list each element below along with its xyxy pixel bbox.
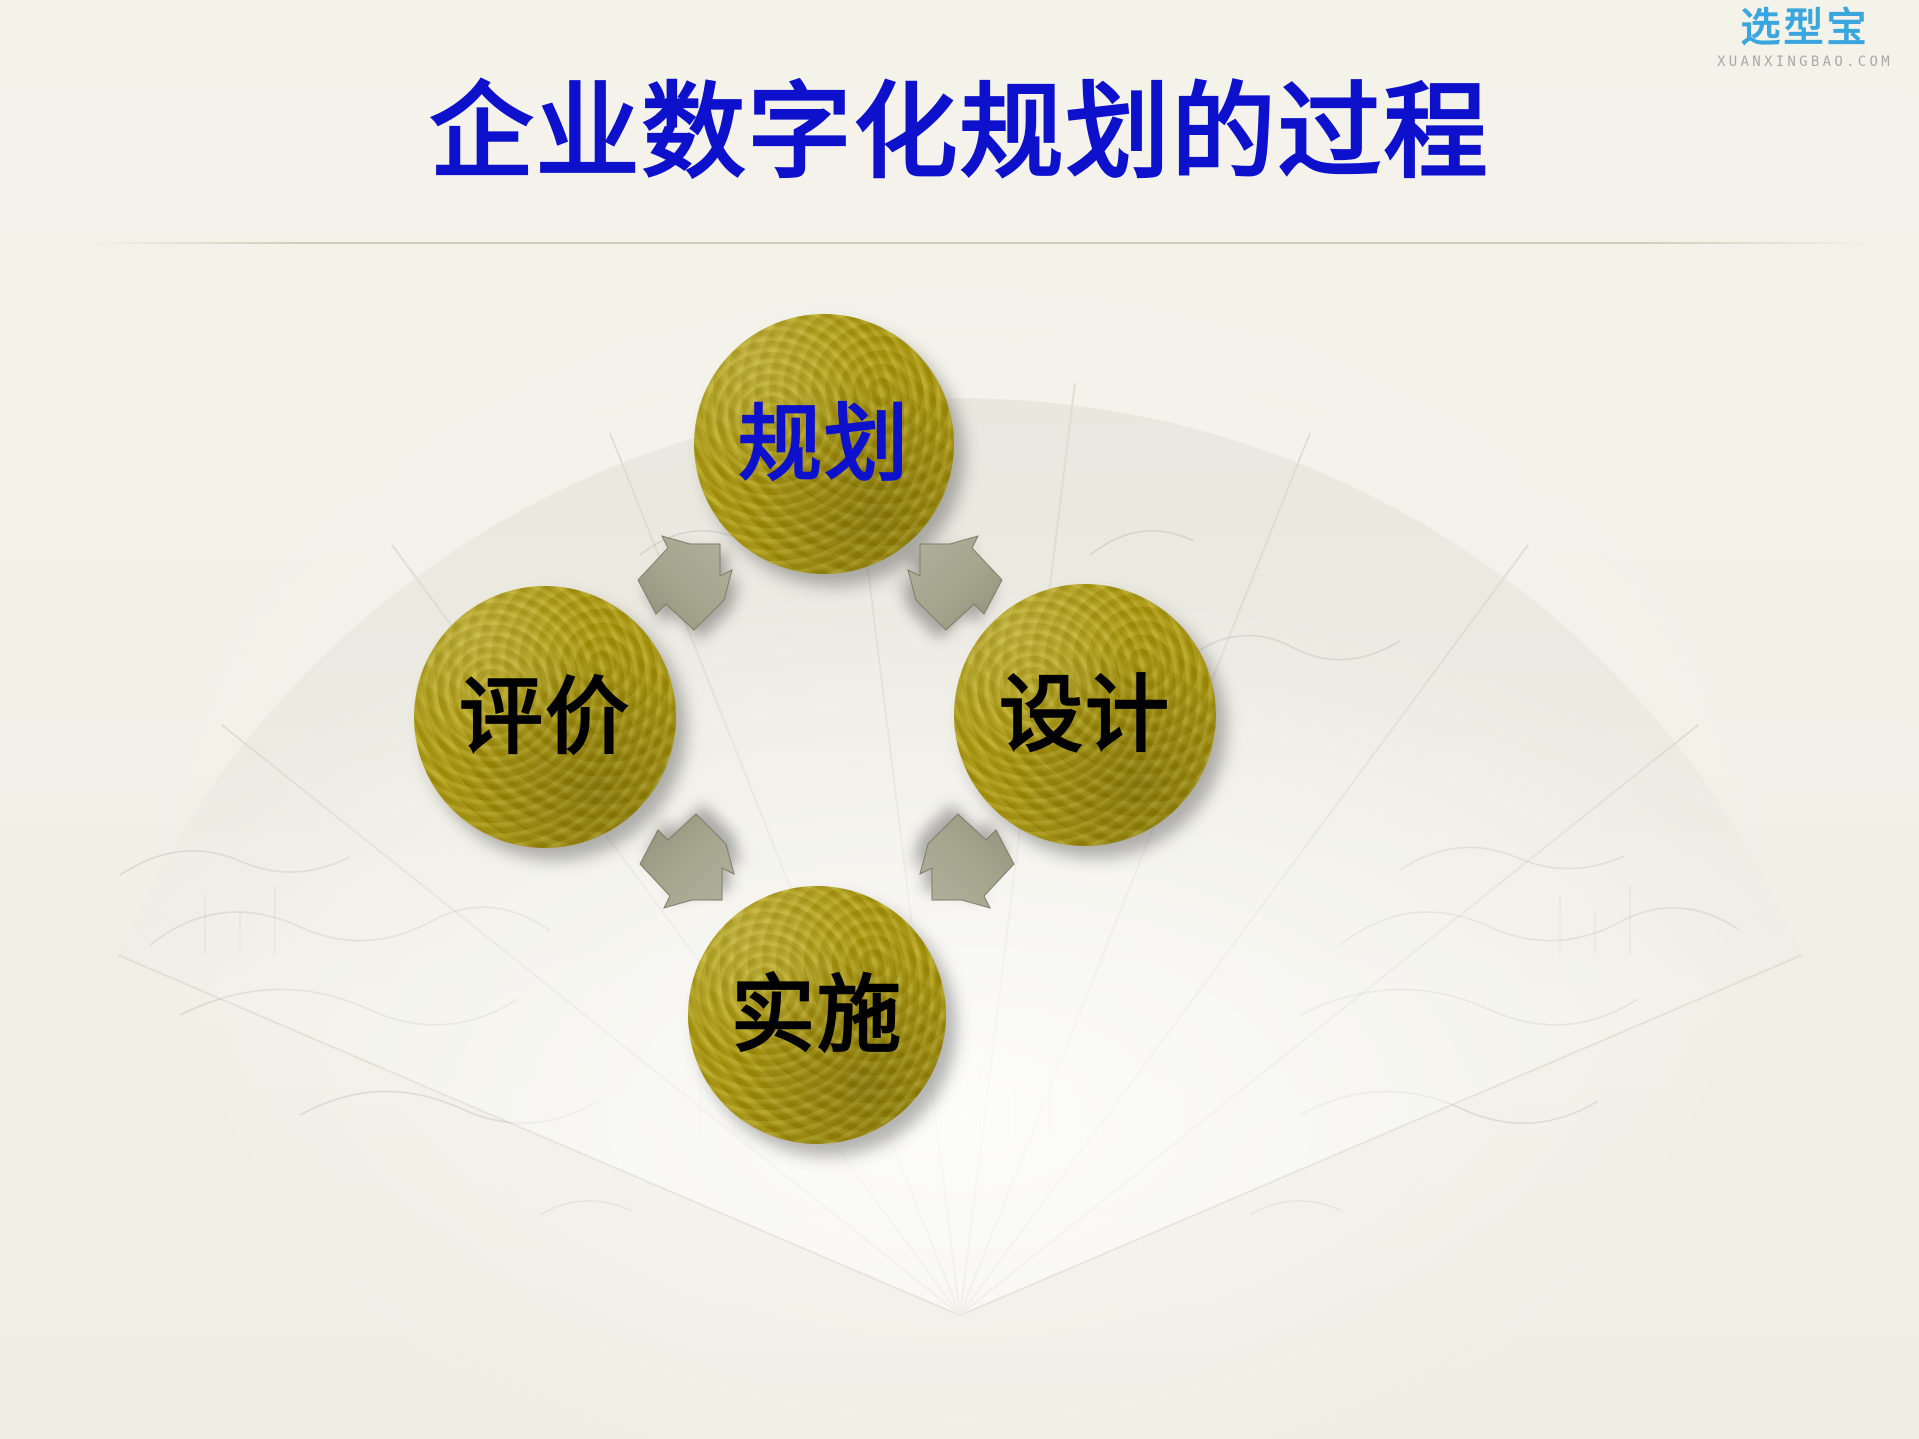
cycle-node-execute[interactable]: 实施 xyxy=(688,886,946,1144)
arrow-plan-to-design-icon xyxy=(900,534,1008,638)
cycle-node-design-label: 设计 xyxy=(999,673,1171,757)
arrow-execute-to-evaluate-icon xyxy=(634,806,742,910)
arrow-evaluate-to-plan-icon xyxy=(632,534,740,638)
process-cycle-diagram: 规划 设计 实施 评价 xyxy=(0,0,1919,1439)
arrow-design-to-execute-icon xyxy=(912,806,1020,910)
cycle-node-execute-label: 实施 xyxy=(731,973,903,1057)
cycle-node-evaluate-label: 评价 xyxy=(459,675,631,759)
cycle-node-plan-label: 规划 xyxy=(738,402,910,486)
slide: 选型宝 XUANXINGBAO.COM 企业数字化规划的过程 规划 设计 实施 … xyxy=(0,0,1919,1439)
